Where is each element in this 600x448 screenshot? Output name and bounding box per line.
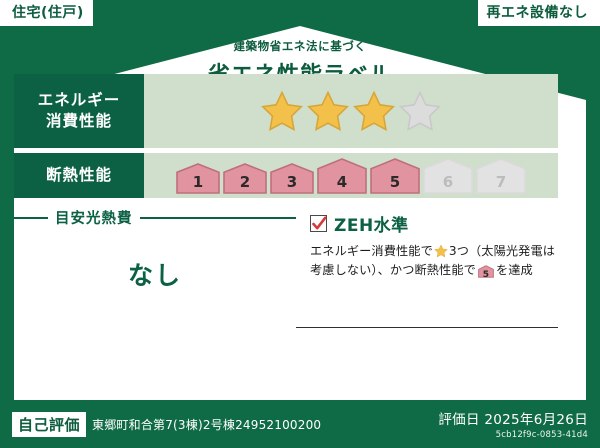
property-address: 東郷町和合第7(3棟)2号棟24952100200 bbox=[92, 416, 321, 433]
badge-building-type: 住宅(住戸) bbox=[0, 0, 93, 26]
insulation-level-7: 7 bbox=[476, 158, 526, 194]
evaluation-date-label: 評価日 bbox=[438, 412, 479, 428]
insulation-level-label: 6 bbox=[423, 173, 473, 191]
insulation-level-5: 5 bbox=[370, 158, 420, 194]
insulation-performance-row: 断熱性能 1234567 bbox=[14, 153, 558, 198]
insulation-level-3: 3 bbox=[270, 163, 314, 194]
insulation-badge-inline-value: 5 bbox=[478, 269, 494, 283]
energy-performance-label: エネルギー 消費性能 bbox=[14, 74, 144, 148]
header-subtitle: 建築物省エネ法に基づく bbox=[14, 38, 586, 54]
insulation-level-label: 1 bbox=[176, 173, 220, 191]
zeh-desc-part1: エネルギー消費性能で bbox=[310, 244, 433, 258]
insulation-label-text: 断熱性能 bbox=[46, 165, 112, 186]
footer: 自己評価 東郷町和合第7(3棟)2号棟24952100200 評価日 2025年… bbox=[0, 400, 600, 448]
zeh-desc-part2: 3つ（太陽光発電 bbox=[449, 244, 543, 258]
zeh-heading: ZEH水準 bbox=[310, 211, 558, 236]
heading-rule-left bbox=[14, 217, 48, 219]
insulation-level-4: 4 bbox=[317, 158, 367, 194]
star-icon-filled bbox=[306, 90, 350, 132]
insulation-level-label: 3 bbox=[270, 173, 314, 191]
insulation-level-label: 2 bbox=[223, 173, 267, 191]
utility-cost-heading: 目安光熱費 bbox=[14, 207, 296, 228]
zeh-title: ZEH水準 bbox=[334, 211, 409, 236]
star-rating bbox=[260, 90, 442, 132]
check-icon bbox=[312, 216, 327, 232]
evaluation-date-value: 2025年6月26日 bbox=[484, 412, 588, 428]
metrics-panel: エネルギー 消費性能 断熱性能 1234567 目安光熱費 なし bbox=[14, 74, 558, 386]
energy-performance-value bbox=[144, 74, 558, 148]
insulation-level-label: 4 bbox=[317, 173, 367, 191]
insulation-level-label: 5 bbox=[370, 173, 420, 191]
badge-renewable-energy: 再エネ設備なし bbox=[478, 0, 600, 26]
star-icon-filled bbox=[260, 90, 304, 132]
insulation-level-2: 2 bbox=[223, 163, 267, 194]
insulation-scale: 1234567 bbox=[176, 158, 526, 194]
insulation-level-6: 6 bbox=[423, 158, 473, 194]
insulation-performance-value: 1234567 bbox=[144, 153, 558, 198]
lower-section: 目安光熱費 なし ZEH水準 エネルギー消費性能で3つ（太陽光発電は考慮しない）… bbox=[14, 203, 558, 338]
self-evaluation-badge: 自己評価 bbox=[12, 412, 86, 437]
heading-rule-right bbox=[140, 217, 297, 219]
evaluation-date: 評価日 2025年6月26日 bbox=[438, 408, 588, 428]
star-icon-empty bbox=[398, 90, 442, 132]
insulation-badge-inline: 5 bbox=[478, 265, 494, 284]
zeh-desc-part4: を達成 bbox=[496, 263, 533, 277]
insulation-level-label: 7 bbox=[476, 173, 526, 191]
energy-performance-row: エネルギー 消費性能 bbox=[14, 74, 558, 148]
utility-cost-value: なし bbox=[14, 256, 296, 292]
utility-cost-block: 目安光熱費 なし bbox=[14, 203, 296, 338]
insulation-level-1: 1 bbox=[176, 163, 220, 194]
zeh-block: ZEH水準 エネルギー消費性能で3つ（太陽光発電は考慮しない）、かつ断熱性能で5… bbox=[296, 203, 558, 338]
utility-cost-heading-text: 目安光熱費 bbox=[55, 207, 133, 228]
energy-label-line2: 消費性能 bbox=[46, 111, 112, 132]
section-divider bbox=[296, 327, 558, 328]
evaluation-code: 5cb12f9c-0853-41d4 bbox=[438, 430, 588, 440]
star-icon-filled bbox=[352, 90, 396, 132]
star-icon-inline bbox=[434, 244, 448, 258]
footer-meta: 評価日 2025年6月26日 5cb12f9c-0853-41d4 bbox=[438, 408, 588, 440]
zeh-checkbox[interactable] bbox=[310, 215, 327, 232]
zeh-description: エネルギー消費性能で3つ（太陽光発電は考慮しない）、かつ断熱性能で5を達成 bbox=[310, 242, 558, 284]
energy-label-line1: エネルギー bbox=[38, 90, 121, 111]
insulation-performance-label: 断熱性能 bbox=[14, 153, 144, 198]
